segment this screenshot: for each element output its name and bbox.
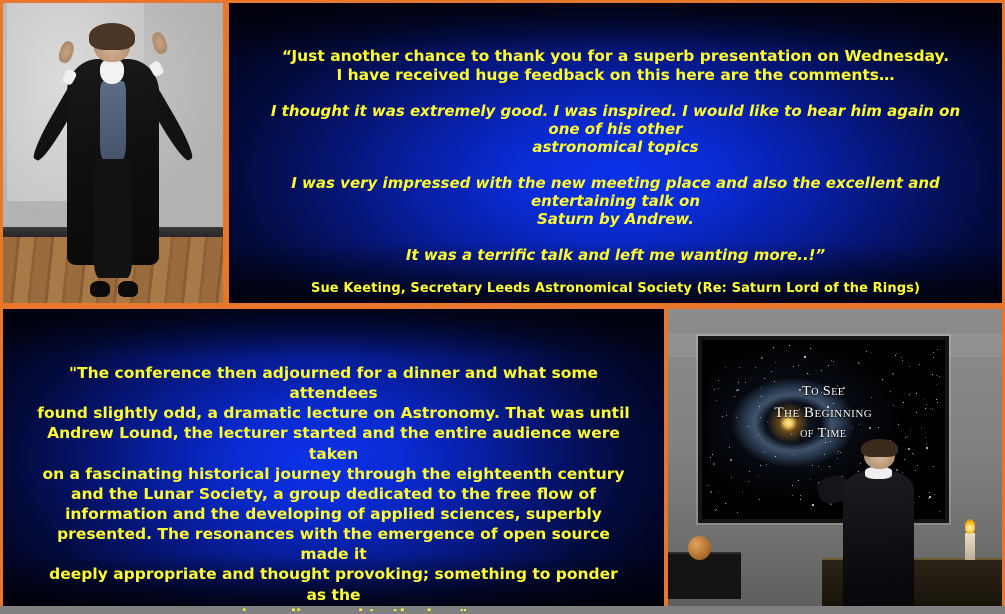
testimonial-top-credit: Sue Keeting, Secretary Leeds Astronomica… (255, 281, 976, 296)
lecturer-collar (865, 467, 891, 479)
quote-paragraph-3: I was very impressed with the new meetin… (255, 174, 976, 229)
quote-paragraph-2: I thought it was extremely good. I was i… (255, 102, 976, 157)
performer-trousers (94, 159, 132, 278)
quote-line: I was very impressed with the new meetin… (255, 174, 976, 211)
quote-line: presented. The resonances with the emerg… (37, 524, 630, 564)
performer-shoe-right (118, 281, 138, 297)
testimonial-panel-top: “Just another chance to thank you for a … (226, 0, 1005, 306)
galaxy-slide-text: To See The Beginning of Time (707, 382, 940, 444)
quote-line: I have received huge feedback on this he… (255, 66, 976, 85)
testimonial-bottom-text: "The conference then adjourned for a din… (3, 309, 664, 614)
quote-paragraph-4: It was a terrific talk and left me wanti… (255, 246, 976, 264)
quote-line: It was a terrific talk and left me wanti… (255, 246, 976, 264)
testimonial-collage: “Just another chance to thank you for a … (0, 0, 1005, 614)
photo-lecturer-standing (0, 0, 226, 306)
quote-line: and the Lunar Society, a group dedicated… (37, 484, 630, 504)
testimonial-panel-bottom: "The conference then adjourned for a din… (0, 306, 667, 614)
quote-line: deeply appropriate and thought provoking… (37, 564, 630, 604)
performer-waistcoat (100, 81, 125, 162)
quote-paragraph: "The conference then adjourned for a din… (37, 363, 630, 614)
lecturer-figure (842, 442, 915, 611)
quote-line: on a fascinating historical journey thro… (37, 464, 630, 484)
slide-line-1: To See (707, 382, 940, 402)
performer-hair (89, 23, 135, 50)
quote-line: Andrew Lound, the lecturer started and t… (37, 423, 630, 463)
photo-lecturer-screen: To See The Beginning of Time (665, 306, 1005, 614)
quote-line: “Just another chance to thank you for a … (255, 47, 976, 66)
photo-lecturer-screen-content: To See The Beginning of Time (668, 309, 1002, 611)
lecturer-hair (861, 439, 898, 458)
quote-line: found slightly odd, a dramatic lecture o… (37, 403, 630, 423)
quote-line: Saturn by Andrew. (255, 210, 976, 228)
side-table (668, 552, 741, 599)
quote-paragraph-1: “Just another chance to thank you for a … (255, 47, 976, 85)
testimonial-top-text: “Just another chance to thank you for a … (229, 3, 1002, 296)
lecturer-coat (843, 471, 914, 611)
quote-line: astronomical topics (255, 138, 976, 156)
performer-hand-left (57, 39, 76, 63)
performer-figure (60, 27, 166, 297)
quote-line: I thought it was extremely good. I was i… (255, 102, 976, 139)
candle (965, 533, 975, 560)
quote-line: information and the developing of applie… (37, 504, 630, 524)
globe-prop (688, 536, 711, 560)
quote-line: "The conference then adjourned for a din… (37, 363, 630, 403)
performer-shoe-left (90, 281, 110, 297)
photo-lecturer-standing-content (3, 3, 223, 303)
performer-cravat (100, 59, 123, 83)
candle-flame-icon (965, 519, 975, 534)
slide-line-2: The Beginning (707, 403, 940, 425)
